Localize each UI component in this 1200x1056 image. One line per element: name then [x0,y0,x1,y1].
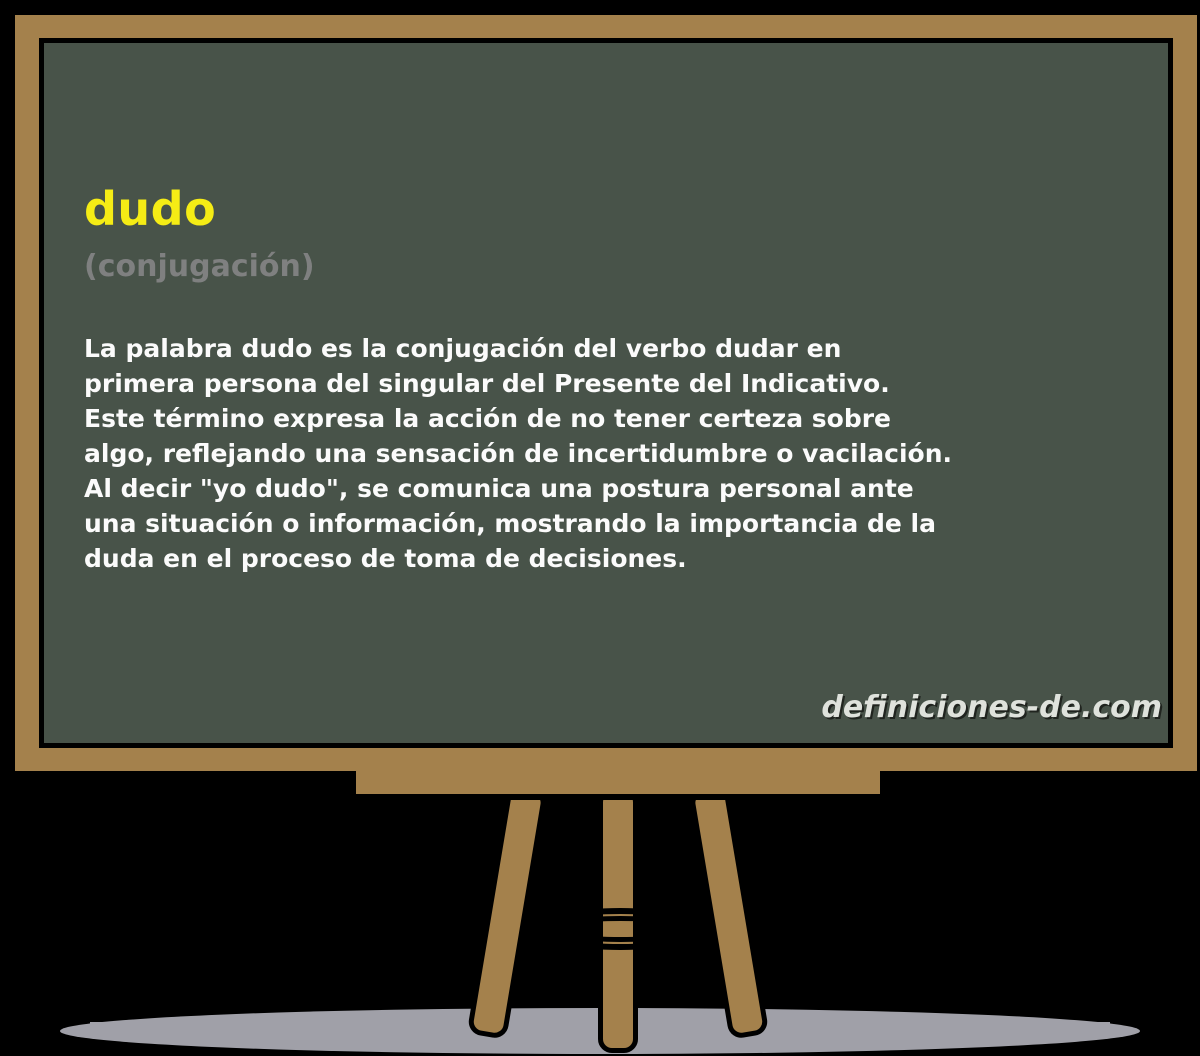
definition-text: La palabra dudo es la conjugación del ve… [84,331,1154,576]
site-watermark: definiciones-de.com [821,690,1162,725]
headword-title: dudo [84,186,216,232]
easel-leg-left [467,785,548,1040]
board-outer-edge: dudo (conjugación) La palabra dudo es la… [6,6,1194,768]
chalkboard-easel-scene: dudo (conjugación) La palabra dudo es la… [0,0,1200,1056]
headword-subtitle: (conjugación) [84,252,315,282]
easel-leg-right [688,785,769,1040]
easel-crossbar-ring-inner [549,916,692,942]
chalkboard-surface: dudo (conjugación) La palabra dudo es la… [44,43,1168,743]
